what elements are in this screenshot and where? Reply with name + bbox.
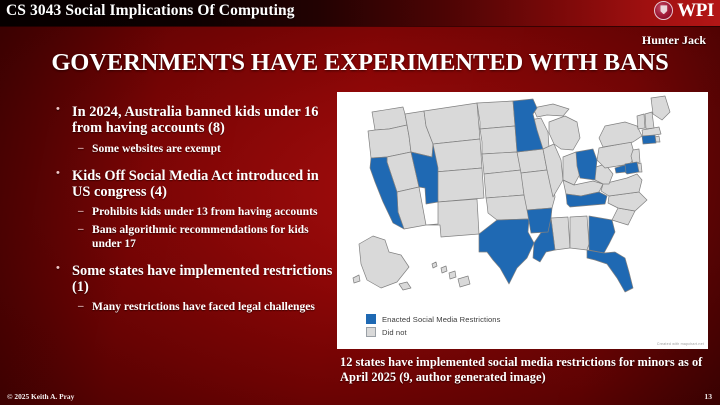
course-title: CS 3043 Social Implications Of Computing (6, 2, 295, 20)
bullet-item: In 2024, Australia banned kids under 16 … (50, 104, 338, 137)
map-legend: Enacted Social Media Restrictions Did no… (366, 314, 501, 340)
legend-label: Did not (382, 328, 407, 337)
presentation-slide: CS 3043 Social Implications Of Computing… (0, 0, 720, 405)
sub-bullet-item: Bans algorithmic recommendations for kid… (50, 223, 338, 249)
wpi-seal-icon (654, 1, 673, 20)
footer-copyright: © 2025 Keith A. Pray (7, 392, 74, 401)
slide-page-number: 13 (704, 392, 712, 401)
author-name: Hunter Jack (642, 33, 706, 48)
map-caption: 12 states have implemented social media … (340, 355, 708, 385)
legend-label: Enacted Social Media Restrictions (382, 315, 501, 324)
map-attribution: Created with mapchart.net (657, 342, 704, 346)
wpi-wordmark: WPI (677, 1, 714, 20)
sub-bullet-item: Prohibits kids under 13 from having acco… (50, 205, 338, 218)
legend-swatch-icon (366, 314, 376, 324)
sub-bullet-item: Many restrictions have faced legal chall… (50, 300, 338, 313)
legend-swatch-icon (366, 327, 376, 337)
us-choropleth-map (337, 92, 708, 314)
us-map-figure: Enacted Social Media Restrictions Did no… (337, 92, 708, 349)
slide-header-bar: CS 3043 Social Implications Of Computing… (0, 0, 720, 26)
bullet-list: In 2024, Australia banned kids under 16 … (50, 104, 338, 319)
slide-title: GOVERNMENTS HAVE EXPERIMENTED WITH BANS (0, 49, 720, 77)
legend-item-did-not: Did not (366, 327, 501, 337)
wpi-logo: WPI (654, 1, 714, 20)
legend-item-enacted: Enacted Social Media Restrictions (366, 314, 501, 324)
bullet-item: Kids Off Social Media Act introduced in … (50, 168, 338, 201)
bullet-item: Some states have implemented restriction… (50, 263, 338, 296)
sub-bullet-item: Some websites are exempt (50, 142, 338, 155)
